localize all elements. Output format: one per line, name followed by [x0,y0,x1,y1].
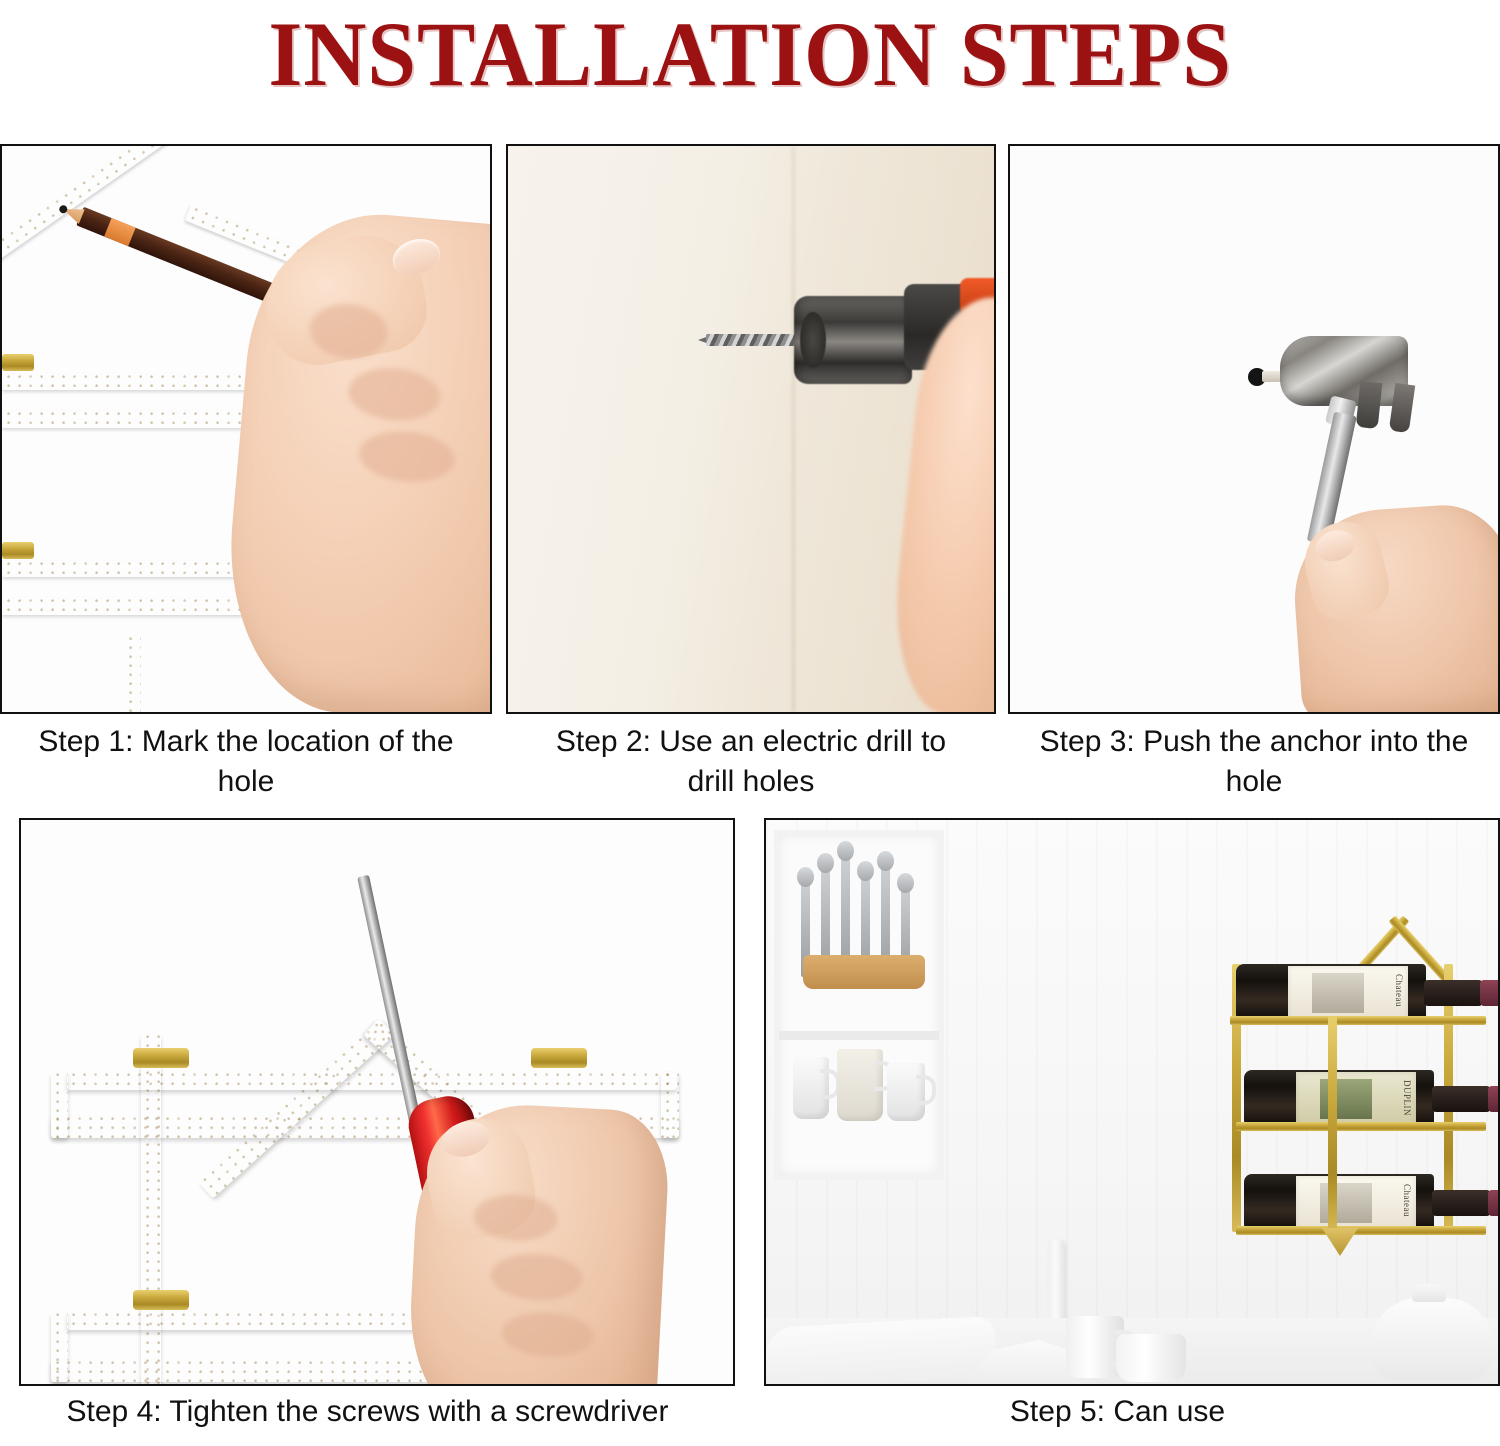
rack-vertical-post-lower [141,1380,161,1386]
step-3-image [1008,144,1500,714]
bottle-neck [1424,980,1482,1006]
rack-hinge-upper-left [133,1048,189,1068]
step-4-image [19,818,735,1386]
babys-breath-bud [882,1384,887,1386]
step-4-photo-cell [19,818,735,1386]
captions-row-bottom: Step 4: Tighten the screws with a screwd… [0,1392,1500,1446]
bottle-capsule [1488,1086,1500,1112]
step-3-caption-line2: hole [1020,762,1488,802]
knuckle [307,301,389,362]
bottle-neck [1432,1190,1490,1216]
page-header: INSTALLATION STEPS [0,0,1500,108]
rack-vertical-post-upper [141,1034,161,1386]
wine-label-text: DUPLIN [1402,1080,1412,1116]
rack-hinge-lower [2,542,34,559]
fingernail [1311,525,1358,566]
rack-shelf-1 [1230,1016,1486,1025]
steps-row-top [0,144,1500,714]
step-1-image [0,144,492,714]
drill-chuck [794,296,912,384]
bottle-neck [1432,1086,1490,1112]
rack-shelf-2 [1236,1122,1486,1131]
rack-shelf-3 [1236,1226,1486,1235]
knuckle [473,1193,559,1243]
cabinet-shelf [779,1031,939,1040]
mug [837,1049,883,1121]
step-3-caption-line1: Step 3: Push the anchor into the [1020,722,1488,762]
wine-bottle: Chateau [1244,1174,1434,1232]
captions-row-top: Step 1: Mark the location of the hole St… [0,722,1500,808]
knuckle [357,428,457,486]
bottle-capsule [1488,1190,1500,1216]
mounted-wine-rack: Chateau DUPLIN [1214,868,1500,1234]
rack-hinge-upper [2,354,34,371]
babys-breath-bud [972,1308,977,1313]
rack-vertical-post [124,636,141,714]
hammer-head [1280,336,1408,406]
wine-bottle-label: Chateau [1296,1176,1416,1230]
steps-row-bottom: Chateau DUPLIN [0,818,1500,1386]
mug [887,1063,925,1121]
table-cloth [765,1316,998,1386]
knuckle [501,1310,595,1359]
step-4-caption: Step 4: Tighten the screws with a screwd… [0,1392,735,1446]
step-2-caption-line2: drill holes [524,762,978,802]
wine-bottle: Chateau [1236,964,1426,1022]
wine-label-text: Chateau [1402,1184,1412,1217]
rack-post-middle [1328,1016,1337,1234]
cup [1116,1334,1186,1382]
label-artwork [1312,973,1364,1013]
wall-cabinet [774,830,944,1180]
step-5-photo-cell: Chateau DUPLIN [764,818,1500,1386]
fingernail [388,233,444,280]
knuckle [490,1252,584,1303]
step-1-caption-line2: hole [18,762,474,802]
hand [405,1100,672,1386]
wine-label-text: Chateau [1394,974,1404,1007]
page-title: INSTALLATION STEPS [268,5,1231,103]
wine-bottle: DUPLIN [1244,1070,1434,1128]
step-2-caption: Step 2: Use an electric drill to drill h… [506,722,996,808]
step-1-caption: Step 1: Mark the location of the hole [0,722,492,808]
mug [793,1057,829,1119]
hand [1289,501,1500,714]
bottle-capsule [1480,980,1500,1006]
wine-bottle-label: DUPLIN [1296,1072,1416,1126]
step-3-photo-cell [1008,144,1500,714]
step-2-photo-cell [506,144,996,714]
step-5-image: Chateau DUPLIN [764,818,1500,1386]
rack-hinge-lower-left [133,1290,189,1310]
wall-corner-edge [792,146,795,712]
step-1-caption-line1: Step 1: Mark the location of the [18,722,474,762]
utensil-group [795,867,923,1007]
rack-hinge-upper-right [531,1048,587,1068]
step-2-caption-line1: Step 2: Use an electric drill to [524,722,978,762]
step-5-caption: Step 5: Can use [735,1392,1500,1446]
wooden-utensil-holder [803,955,925,989]
teapot [1372,1298,1492,1380]
step-1-photo-cell [0,144,492,714]
wine-bottle-label: Chateau [1288,966,1408,1020]
step-3-caption: Step 3: Push the anchor into the hole [1008,722,1500,808]
knuckle [346,364,442,424]
step-2-image [506,144,996,714]
